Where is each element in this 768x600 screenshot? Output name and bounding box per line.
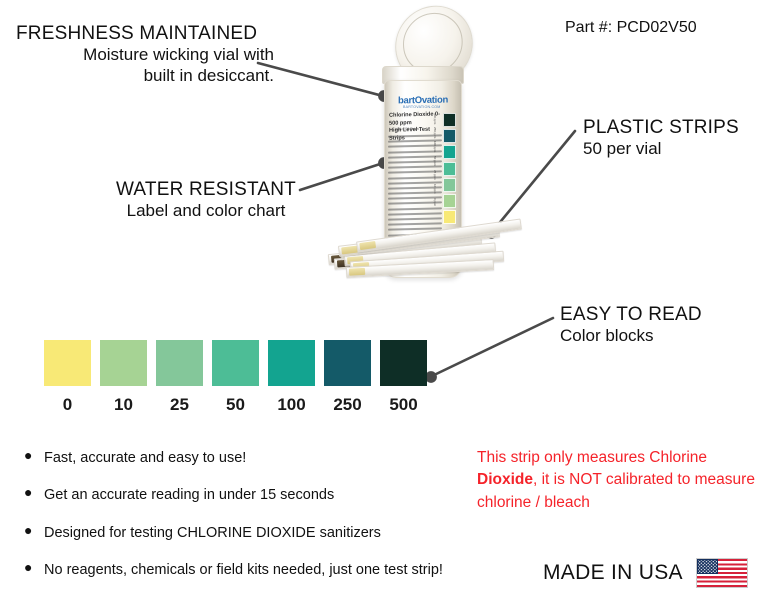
color-block-labels-row: 0102550100250500 — [44, 395, 427, 415]
feature-bullet-text: No reagents, chemicals or field kits nee… — [44, 559, 443, 581]
label-chart-labels: 500 ppm250 ppm100 ppm50 ppm25 ppm10 ppm0… — [433, 113, 442, 212]
color-block-50 — [212, 340, 259, 386]
label-chart-swatch — [443, 178, 456, 192]
label-color-chart — [443, 113, 456, 226]
made-in-usa: MADE IN USA — [543, 558, 748, 588]
part-number: Part #: PCD02V50 — [565, 19, 697, 37]
product-photo: bartOvation BARTOVATION.COM Chlorine Dio… — [300, 0, 530, 300]
label-chart-swatch-label: 0 ppm — [433, 198, 437, 210]
callout-plastic-sub: 50 per vial — [583, 139, 739, 160]
made-in-usa-label: MADE IN USA — [543, 561, 683, 585]
bullet-dot-icon: ● — [24, 484, 44, 502]
label-chart-swatch-label: 50 ppm — [433, 156, 437, 168]
usa-flag-icon — [696, 558, 748, 588]
feature-bullet-item: ●No reagents, chemicals or field kits ne… — [24, 559, 444, 581]
leader-line-easy — [432, 318, 553, 376]
color-block-label-100: 100 — [268, 395, 315, 415]
label-chart-swatch-label: 100 ppm — [433, 141, 437, 153]
warning-text: This strip only measures Chlorine Dioxid… — [477, 447, 757, 514]
color-block-label-10: 10 — [100, 395, 147, 415]
test-strips-pile — [310, 222, 520, 292]
warning-part-1: This strip only measures Chlorine — [477, 449, 707, 466]
color-block-scale: 0102550100250500 — [44, 340, 427, 415]
color-block-100 — [268, 340, 315, 386]
callout-freshness: FRESHNESS MAINTAINED Moisture wicking vi… — [14, 22, 274, 87]
callout-easy-sub: Color blocks — [560, 326, 702, 347]
color-block-10 — [100, 340, 147, 386]
label-chart-swatch — [443, 129, 456, 143]
feature-bullet-list: ●Fast, accurate and easy to use!●Get an … — [24, 447, 444, 597]
color-block-25 — [156, 340, 203, 386]
callout-freshness-sub-1: Moisture wicking vial with — [14, 45, 274, 66]
bullet-dot-icon: ● — [24, 447, 44, 465]
callout-plastic-strips: PLASTIC STRIPS 50 per vial — [583, 116, 739, 160]
leader-dot-easy — [426, 372, 435, 381]
label-chart-swatch — [443, 194, 456, 208]
color-block-500 — [380, 340, 427, 386]
label-chart-swatch-label: 500 ppm — [433, 113, 437, 125]
label-subtitle: Vial of 50 Strips — [395, 127, 419, 132]
bullet-dot-icon: ● — [24, 522, 44, 540]
callout-easy-to-read: EASY TO READ Color blocks — [560, 303, 702, 347]
color-block-label-50: 50 — [212, 395, 259, 415]
feature-bullet-item: ●Fast, accurate and easy to use! — [24, 447, 444, 469]
bullet-dot-icon: ● — [24, 559, 44, 577]
infographic-page: Part #: PCD02V50 FRESHNESS MAINTAINED Mo… — [0, 0, 768, 600]
callout-plastic-head: PLASTIC STRIPS — [583, 116, 739, 139]
callout-water-head: WATER RESISTANT — [92, 178, 320, 201]
callout-freshness-sub-2: built in desiccant. — [14, 66, 274, 87]
feature-bullet-item: ●Designed for testing CHLORINE DIOXIDE s… — [24, 522, 444, 544]
color-block-label-500: 500 — [380, 395, 427, 415]
brand-tagline: BARTOVATION.COM — [403, 105, 440, 109]
color-block-label-25: 25 — [156, 395, 203, 415]
label-chart-swatch — [443, 162, 456, 176]
label-chart-swatch-label: 250 ppm — [433, 127, 437, 139]
label-chart-swatch-label: 25 ppm — [433, 170, 437, 182]
feature-bullet-item: ●Get an accurate reading in under 15 sec… — [24, 484, 444, 506]
color-block-250 — [324, 340, 371, 386]
callout-water-sub: Label and color chart — [92, 201, 320, 222]
feature-bullet-text: Fast, accurate and easy to use! — [44, 447, 246, 469]
label-chart-swatch-label: 10 ppm — [433, 184, 437, 196]
feature-bullet-text: Designed for testing CHLORINE DIOXIDE sa… — [44, 522, 381, 544]
color-blocks-row — [44, 340, 427, 386]
callout-water-resistant: WATER RESISTANT Label and color chart — [92, 178, 320, 222]
color-block-label-0: 0 — [44, 395, 91, 415]
color-block-label-250: 250 — [324, 395, 371, 415]
feature-bullet-text: Get an accurate reading in under 15 seco… — [44, 484, 334, 506]
label-chart-swatch — [443, 113, 456, 127]
callout-freshness-head: FRESHNESS MAINTAINED — [16, 22, 274, 45]
warning-emphasis: Dioxide — [477, 471, 533, 488]
color-block-0 — [44, 340, 91, 386]
label-chart-swatch — [443, 145, 456, 159]
callout-easy-head: EASY TO READ — [560, 303, 702, 326]
